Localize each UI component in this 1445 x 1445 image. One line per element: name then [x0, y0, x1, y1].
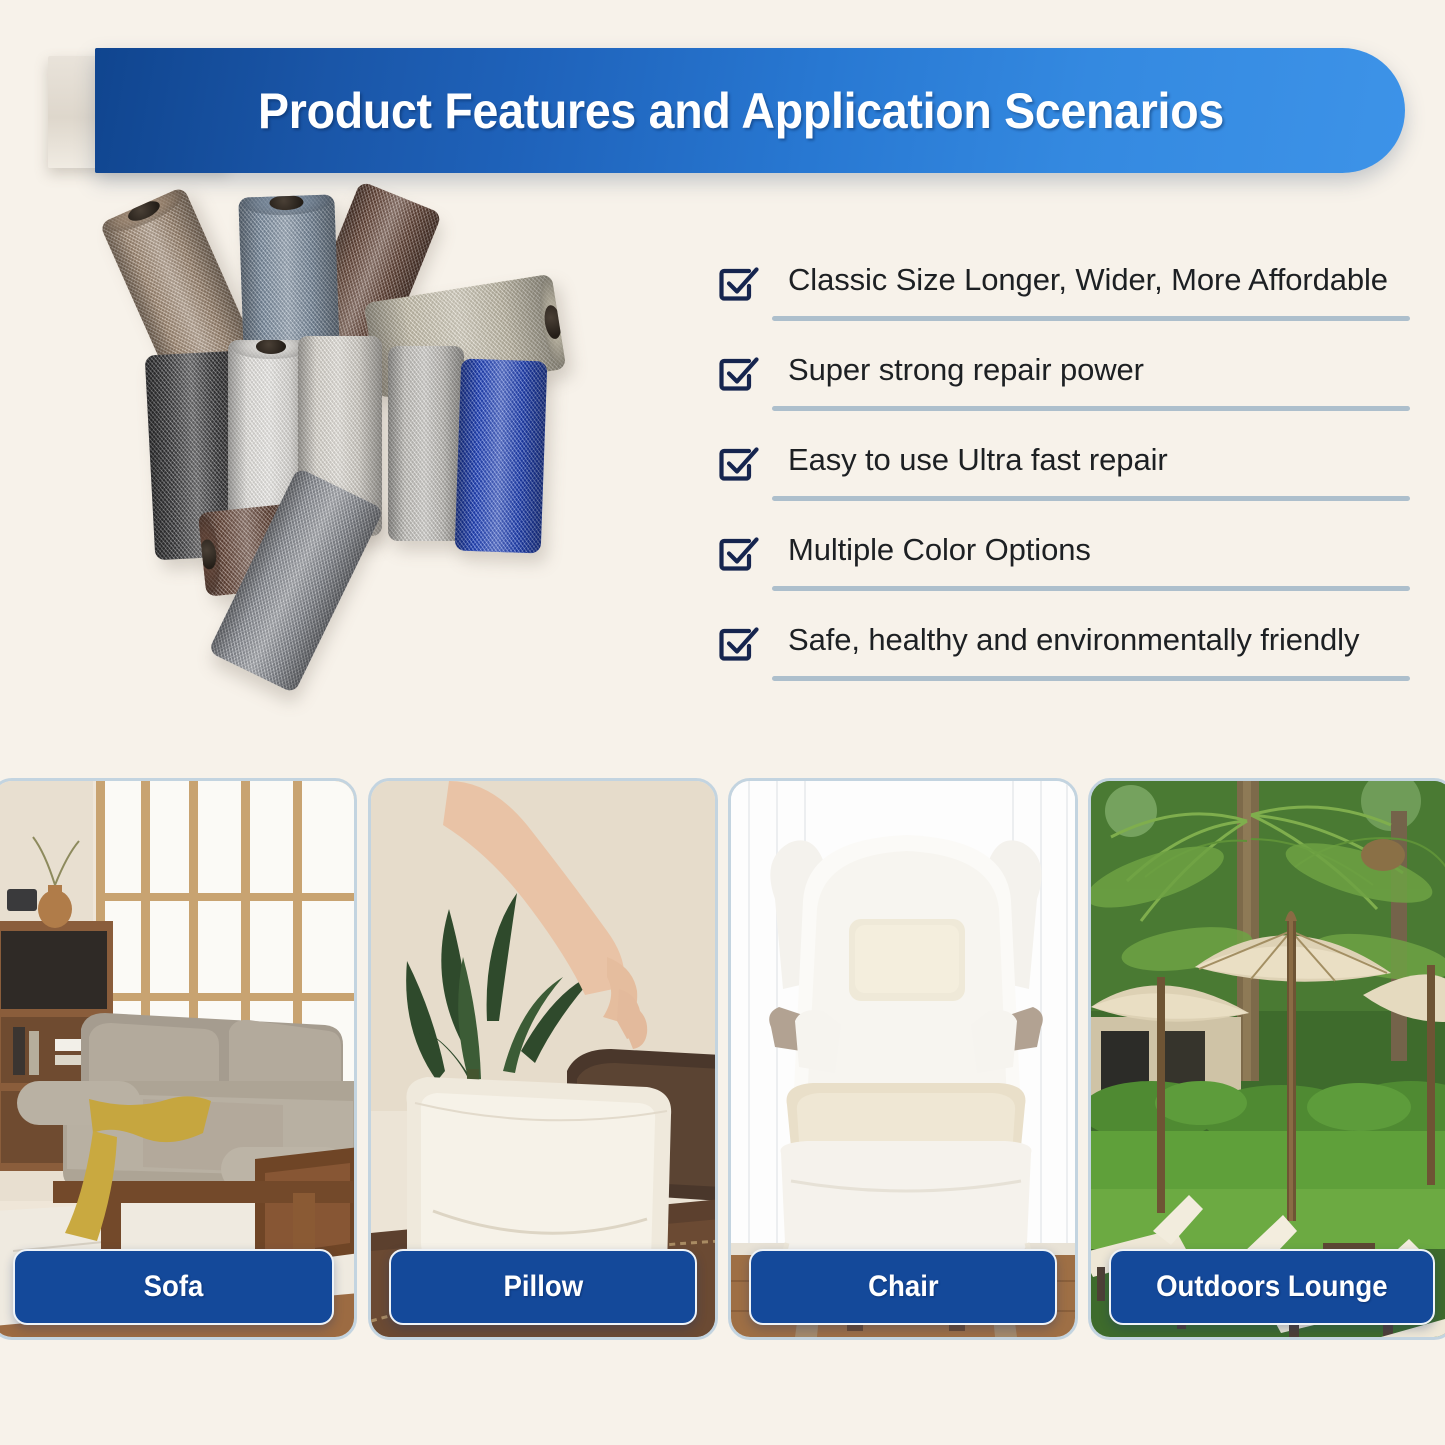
scenario-panel-outdoors-lounge[interactable]: Outdoors Lounge — [1088, 778, 1445, 1340]
product-photo-fabric-repair-tape-rolls — [120, 178, 640, 738]
feature-divider — [772, 316, 1410, 321]
panel-label-text: Outdoors Lounge — [1156, 1270, 1388, 1304]
feature-divider — [772, 406, 1410, 411]
header-banner-container: Product Features and Application Scenari… — [0, 48, 1445, 173]
scenario-panel-sofa[interactable]: Sofa — [0, 778, 357, 1340]
feature-divider — [772, 586, 1410, 591]
feature-list: Classic Size Longer, Wider, More Afforda… — [716, 258, 1416, 708]
checkbox-checked-icon — [716, 620, 760, 664]
checkbox-checked-icon — [716, 440, 760, 484]
feature-item: Classic Size Longer, Wider, More Afforda… — [716, 258, 1416, 348]
feature-label: Classic Size Longer, Wider, More Afforda… — [788, 258, 1388, 302]
feature-divider — [772, 676, 1410, 681]
scenario-panel-chair[interactable]: Chair — [728, 778, 1078, 1340]
feature-label: Multiple Color Options — [788, 528, 1091, 572]
checkbox-checked-icon — [716, 350, 760, 394]
feature-item: Super strong repair power — [716, 348, 1416, 438]
panel-label-chair[interactable]: Chair — [749, 1249, 1057, 1325]
panel-label-sofa[interactable]: Sofa — [13, 1249, 334, 1325]
feature-divider — [772, 496, 1410, 501]
tape-roll — [455, 359, 548, 554]
application-scenarios: Sofa — [0, 778, 1445, 1378]
panel-label-text: Pillow — [503, 1270, 583, 1304]
checkbox-checked-icon — [716, 530, 760, 574]
checkbox-checked-icon — [716, 260, 760, 304]
page-title: Product Features and Application Scenari… — [258, 82, 1242, 140]
tape-roll — [388, 346, 464, 541]
panel-label-text: Sofa — [144, 1270, 204, 1304]
panel-label-outdoors-lounge[interactable]: Outdoors Lounge — [1109, 1249, 1435, 1325]
header-banner: Product Features and Application Scenari… — [95, 48, 1405, 173]
feature-item: Easy to use Ultra fast repair — [716, 438, 1416, 528]
panel-label-text: Chair — [868, 1270, 939, 1304]
feature-item: Safe, healthy and environmentally friend… — [716, 618, 1416, 708]
feature-label: Super strong repair power — [788, 348, 1144, 392]
feature-item: Multiple Color Options — [716, 528, 1416, 618]
feature-label: Safe, healthy and environmentally friend… — [788, 618, 1359, 662]
panel-label-pillow[interactable]: Pillow — [389, 1249, 697, 1325]
feature-label: Easy to use Ultra fast repair — [788, 438, 1168, 482]
scenario-panel-pillow[interactable]: Pillow — [368, 778, 718, 1340]
